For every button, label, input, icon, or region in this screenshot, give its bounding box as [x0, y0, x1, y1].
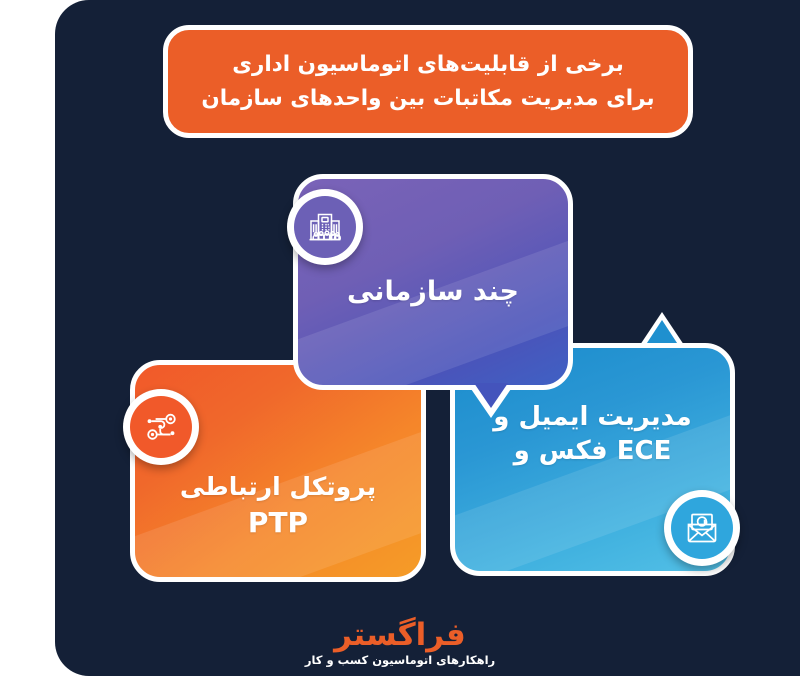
title-line-2: برای مدیریت مکاتبات بین واحدهای سازمان	[201, 82, 654, 115]
card-label-faks-va: فکس و	[514, 436, 608, 466]
card-multi-org[interactable]: چند سازمانی	[293, 174, 573, 390]
logo-tagline: راهکارهای اتوماسیون کسب و کار	[0, 654, 800, 668]
card-label-ptp-protocol: پروتکل ارتباطی PTP	[151, 470, 405, 542]
card-label-ece: ECE	[617, 436, 672, 466]
card-label-ptp: PTP	[151, 505, 405, 542]
title-line-1: برخی از قابلیت‌های اتوماسیون اداری	[232, 48, 624, 81]
infographic-canvas: برخی از قابلیت‌های اتوماسیون اداری برای …	[0, 0, 800, 684]
network-nodes-icon	[123, 389, 199, 465]
email-icon-inner	[671, 497, 733, 559]
building-people-icon	[287, 189, 363, 265]
card-label-line-1: پروتکل ارتباطی	[151, 470, 405, 503]
network-icon-inner	[130, 396, 192, 458]
logo-wordmark: فراگستر	[0, 619, 800, 652]
title-banner: برخی از قابلیت‌های اتوماسیون اداری برای …	[163, 25, 693, 138]
card-label-multi-org: چند سازمانی	[316, 274, 550, 310]
card-label-line-2: ECE فکس و	[469, 434, 716, 468]
purple-card-tail-fill	[474, 383, 508, 408]
email-envelope-at-icon	[664, 490, 740, 566]
brand-logo: فراگستر راهکارهای اتوماسیون کسب و کار	[0, 619, 800, 668]
card-ptp-protocol[interactable]: پروتکل ارتباطی PTP	[130, 360, 426, 582]
building-icon-inner	[294, 196, 356, 258]
